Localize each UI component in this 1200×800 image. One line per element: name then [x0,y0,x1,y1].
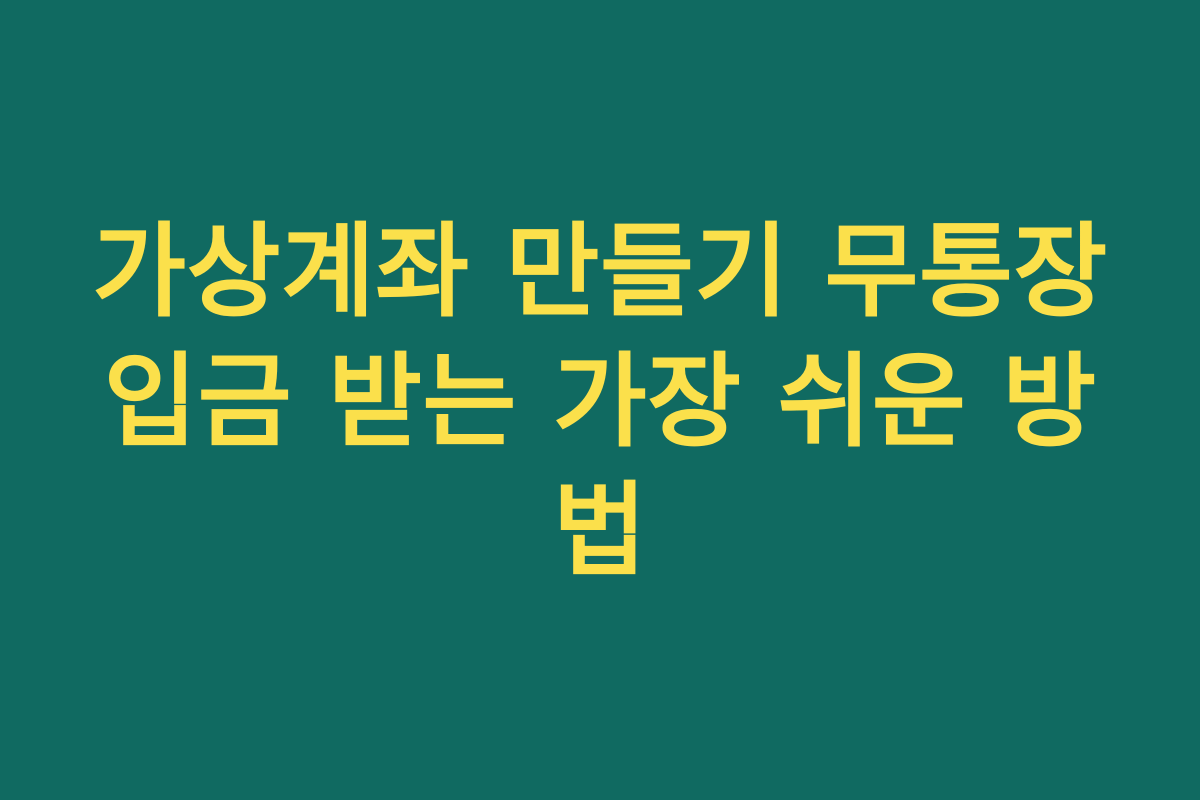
title-block: 가상계좌 만들기 무통장 입금 받는 가장 쉬운 방법 [90,208,1110,597]
title-card: 가상계좌 만들기 무통장 입금 받는 가장 쉬운 방법 [0,0,1200,800]
page-title: 가상계좌 만들기 무통장 입금 받는 가장 쉬운 방법 [90,208,1110,597]
